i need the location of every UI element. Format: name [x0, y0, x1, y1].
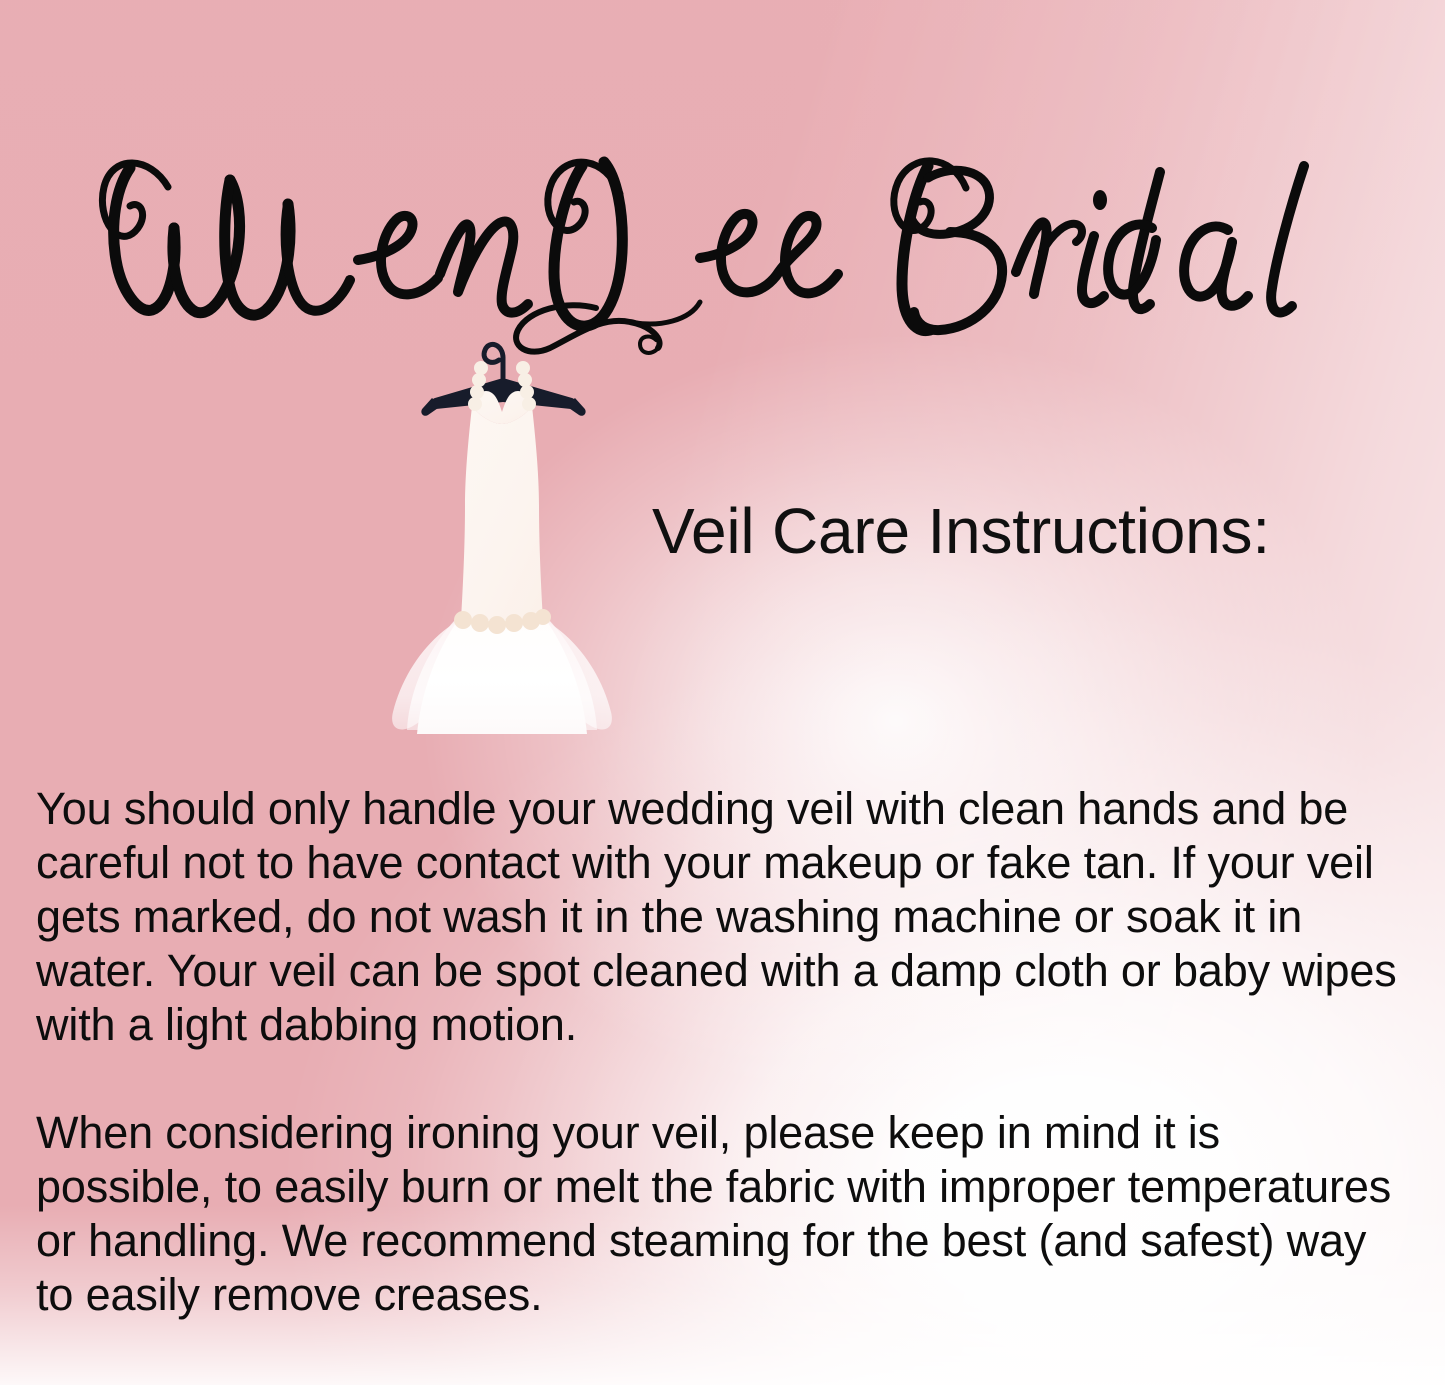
instructions-paragraph-1: You should only handle your wedding veil…	[36, 782, 1408, 1052]
dress-bodice	[461, 406, 543, 620]
instructions-paragraph-2: When considering ironing your veil, plea…	[36, 1106, 1408, 1322]
hanger-hook	[484, 344, 503, 378]
wedding-dress-icon	[385, 330, 620, 750]
wedding-dress-illustration	[385, 330, 620, 750]
instructions-body: You should only handle your wedding veil…	[36, 782, 1408, 1322]
veil-care-instructions-card: Veil Care Instructions: You should only …	[0, 0, 1445, 1385]
paragraph-spacer	[36, 1052, 1408, 1106]
brand-logo	[0, 132, 1445, 362]
brand-logo-script	[0, 132, 1445, 362]
page-title: Veil Care Instructions:	[652, 498, 1270, 565]
